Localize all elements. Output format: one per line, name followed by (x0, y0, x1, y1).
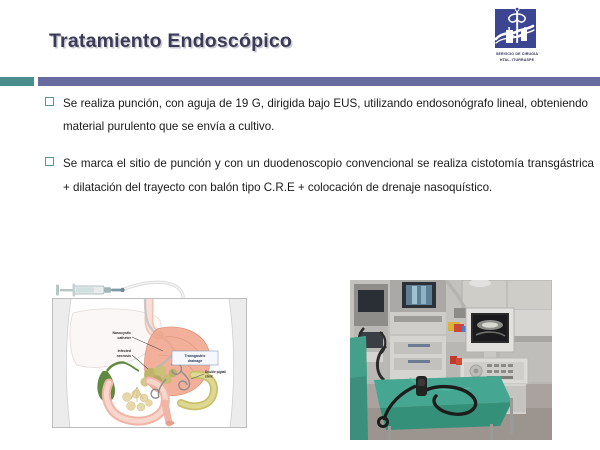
bullet-item: Se realiza punción, con aguja de 19 G, d… (0, 92, 600, 138)
transgastric-drainage-diagram: Nasocystic catheter Infected necrosis Tr… (52, 298, 247, 428)
logo-caption-line1: SERVICIO DE CIRUGIA (487, 52, 547, 58)
svg-text:Infected: Infected (118, 349, 131, 353)
slide: Tratamiento Endoscópico (0, 0, 600, 450)
figures-row: Nasocystic catheter Infected necrosis Tr… (0, 276, 600, 450)
square-bullet-icon (45, 157, 54, 166)
diagram-canvas: Nasocystic catheter Infected necrosis Tr… (53, 299, 246, 427)
svg-text:Double pigtail: Double pigtail (205, 370, 226, 374)
diagram-label-transgastric-drainage: Transgastric drainage (172, 351, 218, 365)
svg-text:Transgastric: Transgastric (185, 354, 206, 358)
slide-body: Se realiza punción, con aguja de 19 G, d… (0, 92, 600, 213)
caduceus-icon (493, 5, 538, 51)
svg-text:catheter: catheter (117, 336, 131, 340)
accent-bar-teal (0, 77, 34, 86)
bullet-text: Se marca el sitio de punción y con un du… (63, 152, 594, 198)
svg-text:necrosis: necrosis (117, 354, 131, 358)
bullet-item: Se marca el sitio de punción y con un du… (0, 152, 600, 198)
svg-text:stent: stent (205, 375, 214, 379)
page-title: Tratamiento Endoscópico (49, 30, 292, 53)
bullet-text: Se realiza punción, con aguja de 19 G, d… (63, 92, 588, 138)
logo-caption-line2: HTAL. ITURRASPE (487, 58, 547, 64)
slide-header: Tratamiento Endoscópico (0, 0, 600, 78)
servicio-de-cirugia-logo: SERVICIO DE CIRUGIA HTAL. ITURRASPE (493, 5, 541, 69)
photo-canvas (350, 280, 552, 440)
svg-text:drainage: drainage (188, 359, 203, 363)
svg-text:Nasocystic: Nasocystic (113, 331, 132, 335)
square-bullet-icon (45, 97, 54, 106)
accent-bar-purple (38, 77, 600, 86)
logo-caption: SERVICIO DE CIRUGIA HTAL. ITURRASPE (487, 52, 547, 63)
endoscopy-suite-photo (350, 280, 552, 440)
